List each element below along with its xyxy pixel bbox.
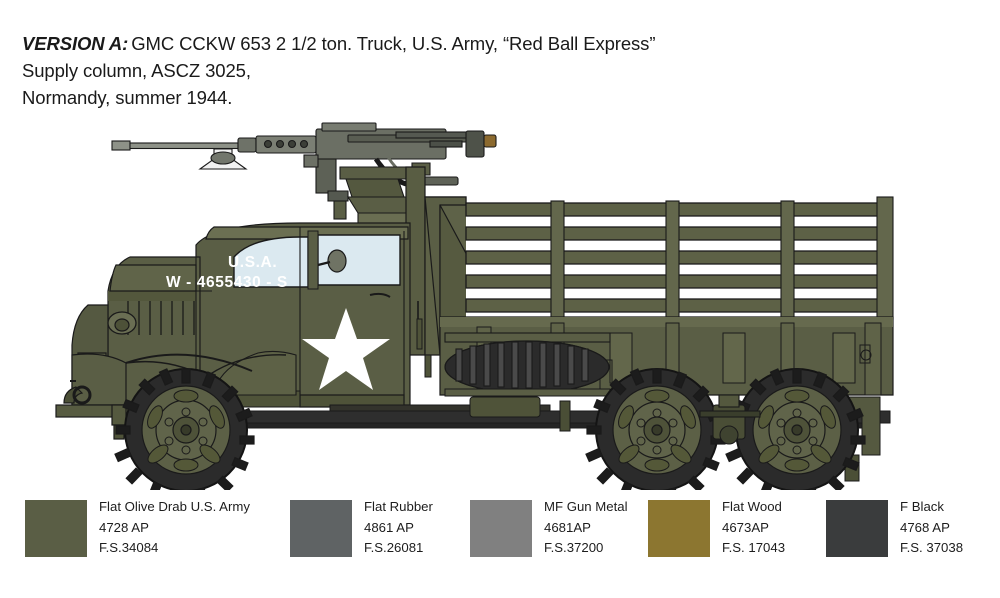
legend-color-name: Flat Rubber bbox=[364, 497, 433, 518]
truck-illustration: U.S.A. W - 4655430 - S bbox=[0, 105, 1000, 490]
legend-color-code: 4681AP bbox=[544, 518, 628, 539]
legend-color-name: MF Gun Metal bbox=[544, 497, 628, 518]
marking-registration: W - 4655430 - S bbox=[166, 274, 288, 291]
legend-color-name: F Black bbox=[900, 497, 963, 518]
legend-color-fs: F.S.34084 bbox=[99, 538, 250, 559]
version-tag: VERSION A: bbox=[22, 33, 128, 54]
color-swatch bbox=[290, 500, 352, 557]
paint-color-legend: Flat Olive Drab U.S. Army 4728 AP F.S.34… bbox=[0, 495, 1000, 575]
color-swatch bbox=[648, 500, 710, 557]
page-title: VERSION A:GMC CCKW 653 2 1/2 ton. Truck,… bbox=[22, 30, 852, 111]
legend-color-fs: F.S.37200 bbox=[544, 538, 628, 559]
legend-color-code: 4768 AP bbox=[900, 518, 963, 539]
legend-color-code: 4728 AP bbox=[99, 518, 250, 539]
color-swatch bbox=[25, 500, 87, 557]
color-swatch bbox=[470, 500, 532, 557]
marking-usa: U.S.A. bbox=[228, 254, 277, 271]
legend-color-fs: F.S. 17043 bbox=[722, 538, 785, 559]
legend-color-name: Flat Olive Drab U.S. Army bbox=[99, 497, 250, 518]
title-line-2: Supply column, ASCZ 3025, bbox=[22, 57, 852, 84]
illustration-page: VERSION A:GMC CCKW 653 2 1/2 ton. Truck,… bbox=[0, 0, 1000, 598]
legend-color-fs: F.S.26081 bbox=[364, 538, 433, 559]
color-swatch bbox=[826, 500, 888, 557]
title-line-1: VERSION A:GMC CCKW 653 2 1/2 ton. Truck,… bbox=[22, 30, 852, 57]
legend-color-name: Flat Wood bbox=[722, 497, 785, 518]
legend-color-code: 4673AP bbox=[722, 518, 785, 539]
title-line-1-text: GMC CCKW 653 2 1/2 ton. Truck, U.S. Army… bbox=[131, 33, 655, 54]
legend-color-fs: F.S. 37038 bbox=[900, 538, 963, 559]
legend-color-code: 4861 AP bbox=[364, 518, 433, 539]
